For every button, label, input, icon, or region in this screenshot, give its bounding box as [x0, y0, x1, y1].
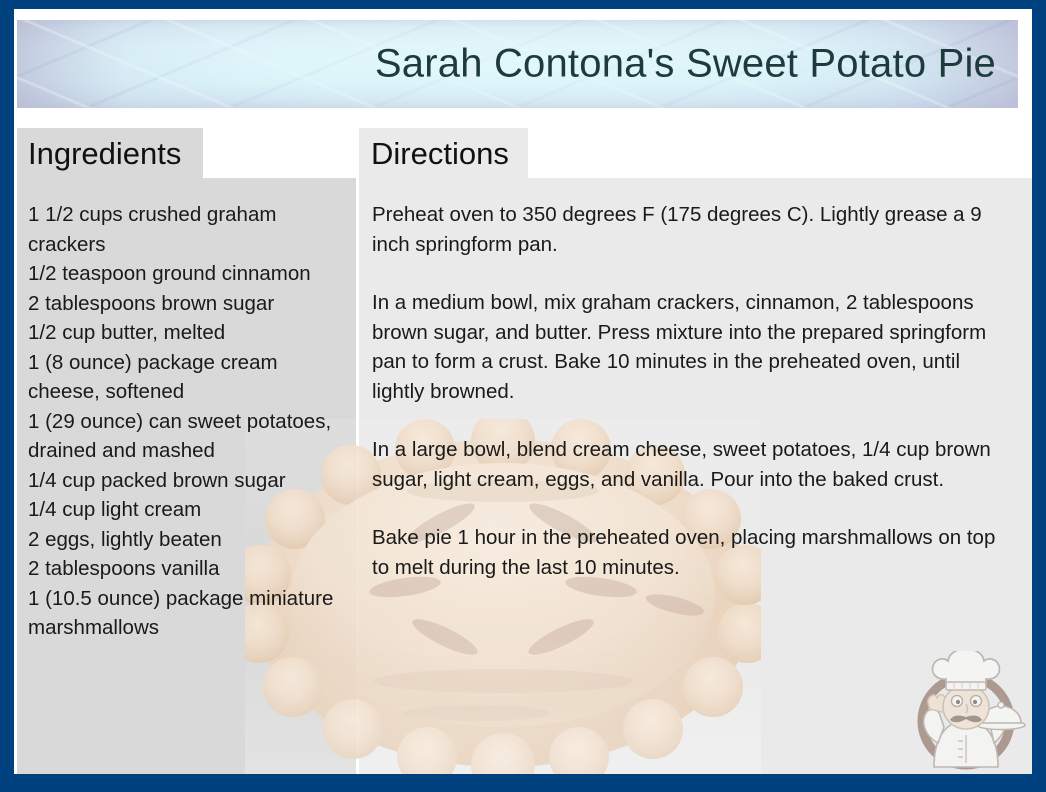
ingredient-item: 2 tablespoons vanilla — [28, 554, 346, 584]
directions-panel: Preheat oven to 350 degrees F (175 degre… — [359, 178, 1032, 774]
directions-steps: Preheat oven to 350 degrees F (175 degre… — [372, 200, 1010, 582]
ingredient-item: 1/2 cup butter, melted — [28, 318, 346, 348]
tab-directions-label: Directions — [371, 138, 509, 169]
direction-step: In a medium bowl, mix graham crackers, c… — [372, 288, 1010, 406]
card-surface: Sarah Contona's Sweet Potato Pie Ingredi… — [14, 9, 1032, 774]
ingredient-item: 1/2 teaspoon ground cinnamon — [28, 259, 346, 289]
header-banner: Sarah Contona's Sweet Potato Pie — [17, 20, 1018, 108]
ingredient-item: 1 (29 ounce) can sweet potatoes, drained… — [28, 407, 346, 466]
ingredient-item: 2 tablespoons brown sugar — [28, 289, 346, 319]
tab-directions[interactable]: Directions — [359, 128, 528, 178]
tab-ingredients-label: Ingredients — [28, 138, 181, 169]
recipe-card: Sarah Contona's Sweet Potato Pie Ingredi… — [0, 0, 1046, 792]
ingredient-item: 1 (10.5 ounce) package miniature marshma… — [28, 584, 346, 643]
direction-step: In a large bowl, blend cream cheese, swe… — [372, 435, 1010, 494]
ingredient-item: 1/4 cup packed brown sugar — [28, 466, 346, 496]
ingredients-panel: 1 1/2 cups crushed graham crackers1/2 te… — [17, 178, 356, 774]
ingredient-item: 1 1/2 cups crushed graham crackers — [28, 200, 346, 259]
ingredients-list: 1 1/2 cups crushed graham crackers1/2 te… — [28, 200, 346, 643]
direction-step: Bake pie 1 hour in the preheated oven, p… — [372, 523, 1010, 582]
ingredient-item: 2 eggs, lightly beaten — [28, 525, 346, 555]
tab-ingredients[interactable]: Ingredients — [17, 128, 203, 178]
ingredient-item: 1/4 cup light cream — [28, 495, 346, 525]
direction-step: Preheat oven to 350 degrees F (175 degre… — [372, 200, 1010, 259]
page-title: Sarah Contona's Sweet Potato Pie — [375, 42, 996, 87]
ingredient-item: 1 (8 ounce) package cream cheese, soften… — [28, 348, 346, 407]
